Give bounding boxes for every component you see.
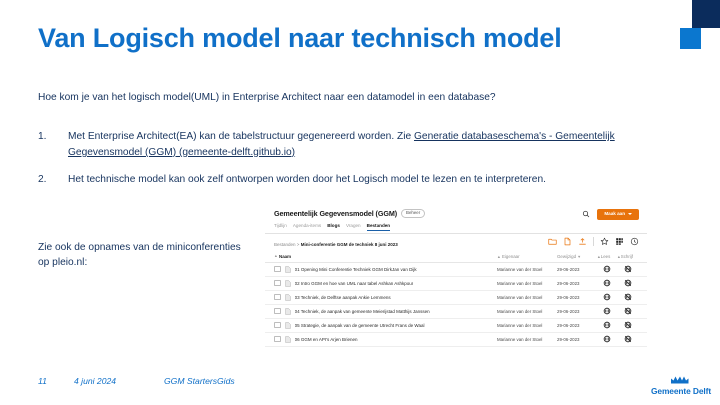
list-item-number: 2. — [38, 172, 68, 188]
file-owner: Marianne van der Stoel — [497, 337, 557, 342]
file-owner: Marianne van der Stoel — [497, 281, 557, 286]
globe-icon — [603, 335, 611, 343]
table-row[interactable]: 05 Strategie, de aanpak van de gemeente … — [265, 319, 647, 333]
breadcrumb: Bestanden > Mini-conferentie GGM de tech… — [274, 242, 398, 247]
file-modified: 29-06-2023 — [557, 309, 597, 314]
embedded-screenshot: Gemeentelijk Gegevensmodel (GGM) Beheer … — [265, 203, 647, 371]
file-modified: 29-06-2023 — [557, 267, 597, 272]
list-item: 1. Met Enterprise Architect(EA) kan de t… — [38, 129, 638, 161]
tab-vragen[interactable]: Vragen — [346, 223, 361, 232]
globe-off-icon — [624, 321, 632, 329]
column-header-schrijf-label: Schrijf — [621, 254, 633, 259]
write-permission — [617, 265, 639, 273]
decor-square-navy — [692, 0, 720, 28]
write-permission — [617, 335, 639, 343]
slide-footer: 114 juni 2024GGM StartersGids — [38, 376, 458, 386]
table-row[interactable]: 03 Techniek, de Delftse aanpak Ankie Lem… — [265, 291, 647, 305]
file-modified: 29-06-2023 — [557, 281, 597, 286]
breadcrumb-root[interactable]: Bestanden — [274, 242, 296, 247]
breadcrumb-separator: > — [297, 242, 300, 247]
list-item-text: Het technische model kan ook zelf ontwor… — [68, 172, 638, 188]
tab-tijdlijn[interactable]: Tijdlijn — [274, 223, 287, 232]
column-header-lees[interactable]: ▲Lees — [597, 254, 617, 259]
delft-crown-icon — [670, 371, 692, 380]
file-icon — [285, 322, 291, 329]
globe-icon — [603, 321, 611, 329]
sort-indicator-modified: ▼ — [577, 255, 581, 259]
column-header-gewijzigd-label: Gewijzigd — [557, 254, 576, 259]
column-header-naam[interactable]: Naam — [279, 254, 291, 259]
table-row[interactable]: 01 Opening Mini Conferentie Techniek GGM… — [265, 263, 647, 277]
row-meta: Marianne van der Stoel 29-06-2023 — [497, 279, 639, 287]
row-checkbox[interactable] — [274, 266, 281, 273]
chevron-down-icon — [628, 213, 632, 215]
gemeente-delft-logo: Gemeente Delft — [650, 371, 712, 399]
write-permission — [617, 293, 639, 301]
upload-icon[interactable] — [578, 237, 587, 246]
file-icon — [285, 280, 291, 287]
globe-icon — [603, 307, 611, 315]
file-owner: Marianne van der Stoel — [497, 309, 557, 314]
new-folder-icon[interactable] — [548, 237, 557, 246]
toolbar-divider — [593, 237, 594, 246]
file-modified: 29-06-2023 — [557, 337, 597, 342]
numbered-list: 1. Met Enterprise Architect(EA) kan de t… — [38, 129, 638, 198]
file-owner: Marianne van der Stoel — [497, 267, 557, 272]
read-permission — [597, 265, 617, 273]
read-permission — [597, 279, 617, 287]
globe-off-icon — [624, 335, 632, 343]
header-actions: Maak aan — [582, 209, 639, 220]
logo-text: Gemeente Delft — [651, 386, 711, 396]
row-checkbox[interactable] — [274, 308, 281, 315]
row-checkbox[interactable] — [274, 294, 281, 301]
decor-square-blue — [680, 28, 701, 49]
slide-number: 11 — [38, 376, 74, 386]
column-header-schrijf[interactable]: ▲Schrijf — [617, 254, 639, 259]
table-header-right: ▲ Eigenaar Gewijzigd ▼ ▲Lees ▲Schrijf — [497, 254, 639, 259]
file-owner: Marianne van der Stoel — [497, 295, 557, 300]
slide-date: 4 juni 2024 — [74, 376, 164, 386]
row-meta: Marianne van der Stoel 29-06-2023 — [497, 265, 639, 273]
write-permission — [617, 279, 639, 287]
file-owner: Marianne van der Stoel — [497, 323, 557, 328]
globe-off-icon — [624, 265, 632, 273]
file-name[interactable]: 06 GGM en API's Arjen Brienen — [295, 337, 358, 342]
globe-off-icon — [624, 307, 632, 315]
admin-badge[interactable]: Beheer — [401, 209, 425, 218]
row-checkbox[interactable] — [274, 336, 281, 343]
list-item-lead: Met Enterprise Architect(EA) kan de tabe… — [68, 131, 414, 142]
row-meta: Marianne van der Stoel 29-06-2023 — [497, 335, 639, 343]
slide-canvas: Van Logisch model naar technisch model H… — [0, 0, 720, 405]
row-meta: Marianne van der Stoel 29-06-2023 — [497, 307, 639, 315]
file-name[interactable]: 03 Techniek, de Delftse aanpak Ankie Lem… — [295, 295, 391, 300]
globe-off-icon — [624, 293, 632, 301]
site-title: Gemeentelijk Gegevensmodel (GGM) — [274, 209, 397, 218]
file-name[interactable]: 01 Opening Mini Conferentie Techniek GGM… — [295, 267, 417, 272]
file-toolbar — [548, 237, 639, 246]
file-modified: 29-06-2023 — [557, 295, 597, 300]
see-also-text: Zie ook de opnames van de miniconferenti… — [38, 240, 253, 271]
table-row[interactable]: 06 GGM en API's Arjen Brienen Marianne v… — [265, 333, 647, 347]
info-icon[interactable] — [630, 237, 639, 246]
file-icon — [285, 336, 291, 343]
file-modified: 29-06-2023 — [557, 323, 597, 328]
read-permission — [597, 335, 617, 343]
page-title: Van Logisch model naar technisch model — [38, 24, 658, 54]
file-icon — [285, 294, 291, 301]
list-item-number: 1. — [38, 129, 68, 161]
table-row[interactable]: 04 Techniek, de aanpak van gemeente Meie… — [265, 305, 647, 319]
globe-off-icon — [624, 279, 632, 287]
list-item-lead: Het technische model kan ook zelf ontwor… — [68, 174, 546, 185]
column-header-lees-label: Lees — [601, 254, 611, 259]
deck-name: GGM StartersGids — [164, 376, 235, 386]
tab-blogs[interactable]: Blogs — [327, 223, 340, 232]
create-button-label: Maak aan — [604, 212, 625, 217]
list-item-text: Met Enterprise Architect(EA) kan de tabe… — [68, 129, 638, 161]
table-row[interactable]: 02 Intro GGM en hoe van UML naar tabel A… — [265, 277, 647, 291]
globe-icon — [603, 265, 611, 273]
tab-bestanden[interactable]: Bestanden — [367, 223, 391, 232]
search-icon[interactable] — [582, 210, 590, 218]
globe-icon — [603, 279, 611, 287]
file-icon — [285, 308, 291, 315]
row-meta: Marianne van der Stoel 29-06-2023 — [497, 321, 639, 329]
file-icon — [285, 266, 291, 273]
create-button[interactable]: Maak aan — [597, 209, 639, 220]
row-checkbox[interactable] — [274, 322, 281, 329]
list-item: 2. Het technische model kan ook zelf ont… — [38, 172, 638, 188]
star-icon[interactable] — [600, 237, 609, 246]
read-permission — [597, 307, 617, 315]
new-file-icon[interactable] — [563, 237, 572, 246]
table-header-row: ▲ Naam ▲ Eigenaar Gewijzigd ▼ ▲Lees ▲Sch… — [265, 251, 647, 263]
site-tabs: Tijdlijn Agenda-items Blogs Vragen Besta… — [274, 223, 638, 232]
tab-agenda-items[interactable]: Agenda-items — [293, 223, 321, 232]
write-permission — [617, 307, 639, 315]
breadcrumb-row: Bestanden > Mini-conferentie GGM de tech… — [265, 234, 647, 251]
sort-indicator-name: ▲ — [274, 254, 278, 258]
slide-subtitle: Hoe kom je van het logisch model(UML) in… — [38, 91, 668, 105]
write-permission — [617, 321, 639, 329]
column-header-gewijzigd[interactable]: Gewijzigd ▼ — [557, 254, 597, 259]
read-permission — [597, 321, 617, 329]
site-header: Gemeentelijk Gegevensmodel (GGM) Beheer … — [265, 203, 647, 233]
file-name[interactable]: 02 Intro GGM en hoe van UML naar tabel A… — [295, 281, 414, 286]
read-permission — [597, 293, 617, 301]
sort-indicator-owner: ▲ — [497, 255, 501, 259]
file-name[interactable]: 05 Strategie, de aanpak van de gemeente … — [295, 323, 425, 328]
breadcrumb-current: Mini-conferentie GGM de techniek 8 juni … — [301, 242, 398, 247]
column-header-eigenaar[interactable]: ▲ Eigenaar — [497, 254, 557, 259]
column-header-eigenaar-label: Eigenaar — [502, 254, 520, 259]
row-checkbox[interactable] — [274, 280, 281, 287]
row-meta: Marianne van der Stoel 29-06-2023 — [497, 293, 639, 301]
globe-icon — [603, 293, 611, 301]
grid-view-icon[interactable] — [615, 237, 624, 246]
file-name[interactable]: 04 Techniek, de aanpak van gemeente Meie… — [295, 309, 430, 314]
